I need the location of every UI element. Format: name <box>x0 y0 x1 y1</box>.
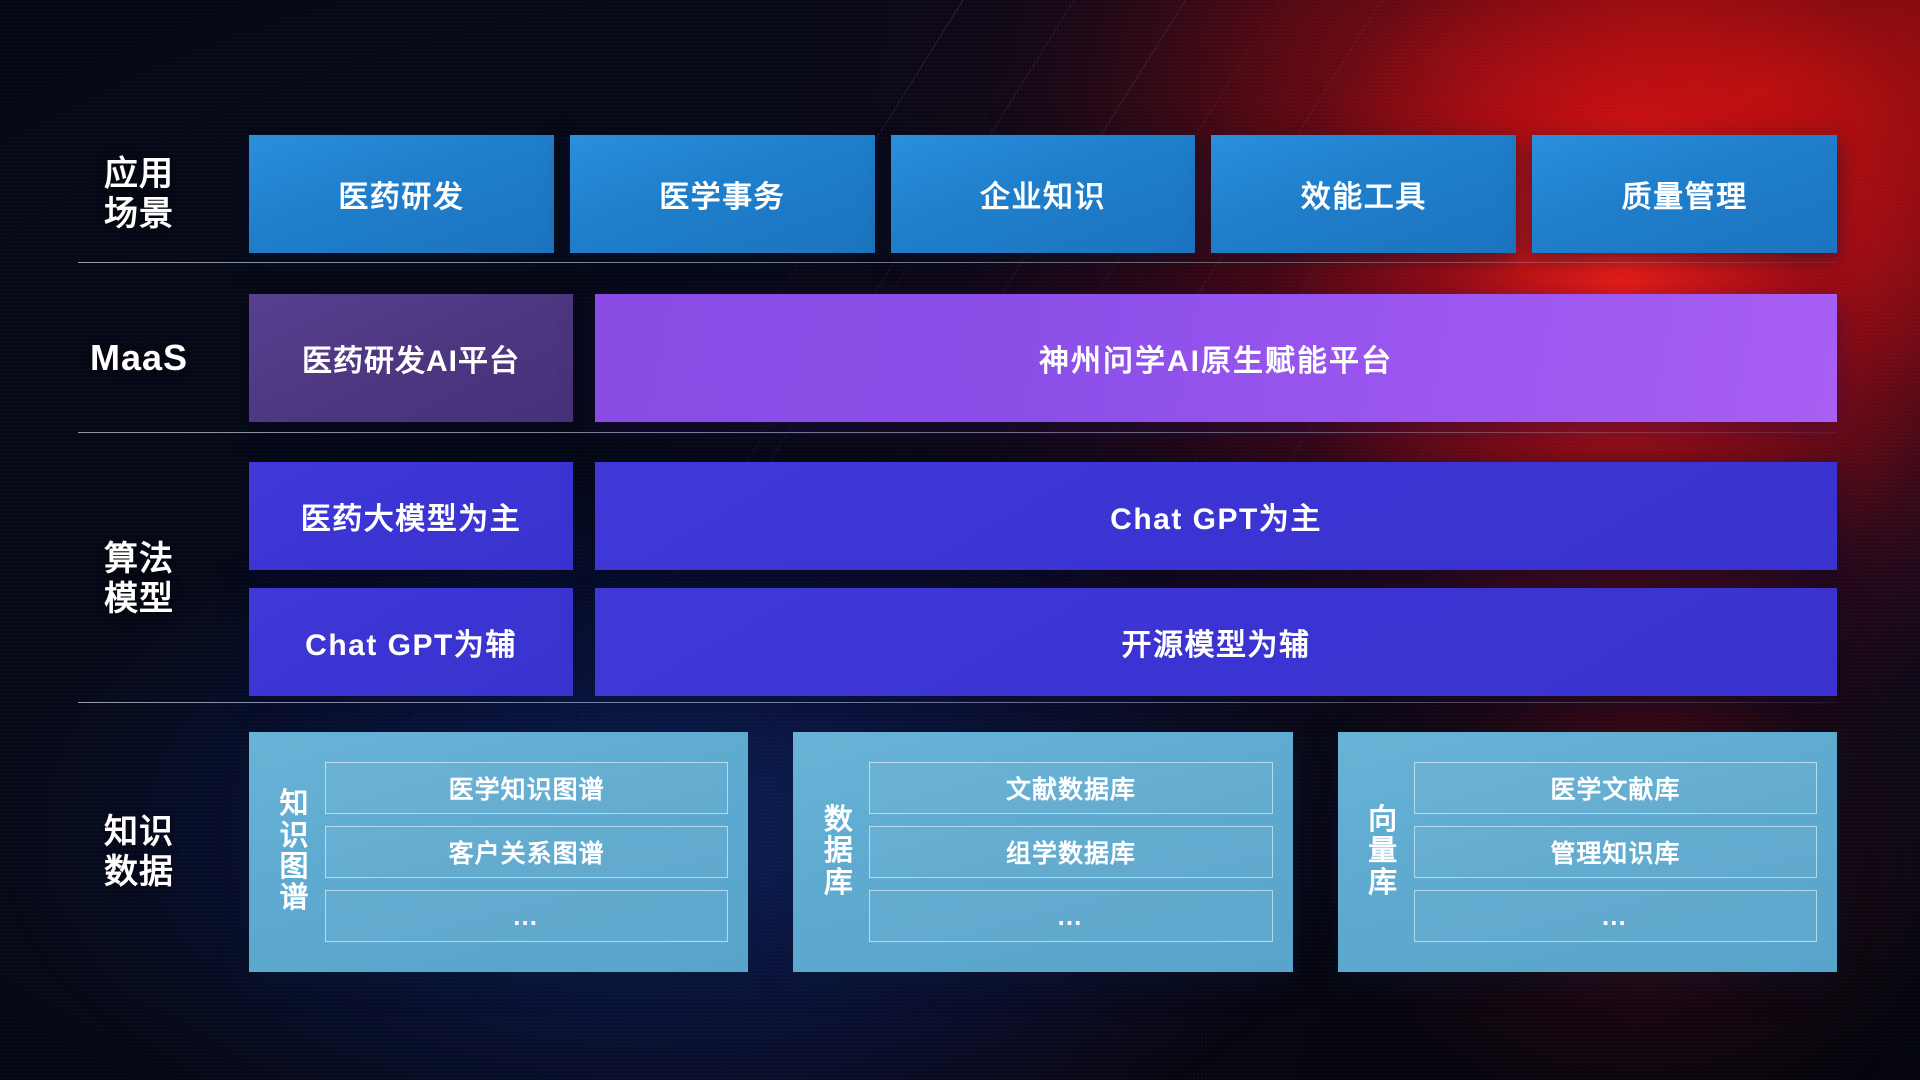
knowledge-panel-vector-store[interactable]: 向 量 库医学文献库管理知识库… <box>1338 732 1837 972</box>
knowledge-panel-label-vector-store: 向 量 库 <box>1352 805 1414 899</box>
row-label-algorithm-model: 算法 模型 <box>78 458 200 700</box>
row-label-maas: MaaS <box>78 294 200 422</box>
knowledge-item-list-database: 文献数据库组学数据库… <box>869 762 1272 942</box>
divider-applications <box>78 262 1837 263</box>
knowledge-item-database-2[interactable]: 组学数据库 <box>869 826 1272 878</box>
maas-platform-tile[interactable]: 医药研发AI平台 <box>249 294 573 422</box>
app-scenario-tile-3[interactable]: 企业知识 <box>891 135 1196 253</box>
knowledge-item-knowledge-graph-3[interactable]: … <box>325 890 728 942</box>
knowledge-item-database-1[interactable]: 文献数据库 <box>869 762 1272 814</box>
maas-enablement-platform-bar[interactable]: 神州问学AI原生赋能平台 <box>595 294 1837 422</box>
algorithm-tile-left-2[interactable]: Chat GPT为辅 <box>249 588 573 696</box>
knowledge-item-list-knowledge-graph: 医学知识图谱客户关系图谱… <box>325 762 728 942</box>
knowledge-item-vector-store-3[interactable]: … <box>1414 890 1817 942</box>
divider-maas <box>78 432 1837 433</box>
knowledge-panel-database[interactable]: 数 据 库文献数据库组学数据库… <box>793 732 1292 972</box>
slide-canvas: 应用 场景医药研发医学事务企业知识效能工具质量管理MaaS医药研发AI平台神州问… <box>0 0 1920 1080</box>
architecture-diagram: 应用 场景医药研发医学事务企业知识效能工具质量管理MaaS医药研发AI平台神州问… <box>0 0 1920 1080</box>
algorithm-tile-right-2[interactable]: 开源模型为辅 <box>595 588 1837 696</box>
algorithm-tile-left-1[interactable]: 医药大模型为主 <box>249 462 573 570</box>
knowledge-item-knowledge-graph-2[interactable]: 客户关系图谱 <box>325 826 728 878</box>
knowledge-panel-knowledge-graph[interactable]: 知 识 图 谱医学知识图谱客户关系图谱… <box>249 732 748 972</box>
knowledge-panel-label-database: 数 据 库 <box>807 805 869 899</box>
app-scenario-tile-2[interactable]: 医学事务 <box>570 135 875 253</box>
knowledge-panel-label-knowledge-graph: 知 识 图 谱 <box>263 789 325 914</box>
knowledge-item-vector-store-1[interactable]: 医学文献库 <box>1414 762 1817 814</box>
knowledge-item-knowledge-graph-1[interactable]: 医学知识图谱 <box>325 762 728 814</box>
row-label-knowledge-data: 知识 数据 <box>78 742 200 962</box>
app-scenario-tile-1[interactable]: 医药研发 <box>249 135 554 253</box>
knowledge-item-vector-store-2[interactable]: 管理知识库 <box>1414 826 1817 878</box>
knowledge-item-database-3[interactable]: … <box>869 890 1272 942</box>
row-label-application-scenarios: 应用 场景 <box>78 135 200 253</box>
knowledge-item-list-vector-store: 医学文献库管理知识库… <box>1414 762 1817 942</box>
app-scenario-tile-5[interactable]: 质量管理 <box>1532 135 1837 253</box>
app-scenario-tile-4[interactable]: 效能工具 <box>1211 135 1516 253</box>
algorithm-tile-right-1[interactable]: Chat GPT为主 <box>595 462 1837 570</box>
divider-algorithm <box>78 702 1837 703</box>
